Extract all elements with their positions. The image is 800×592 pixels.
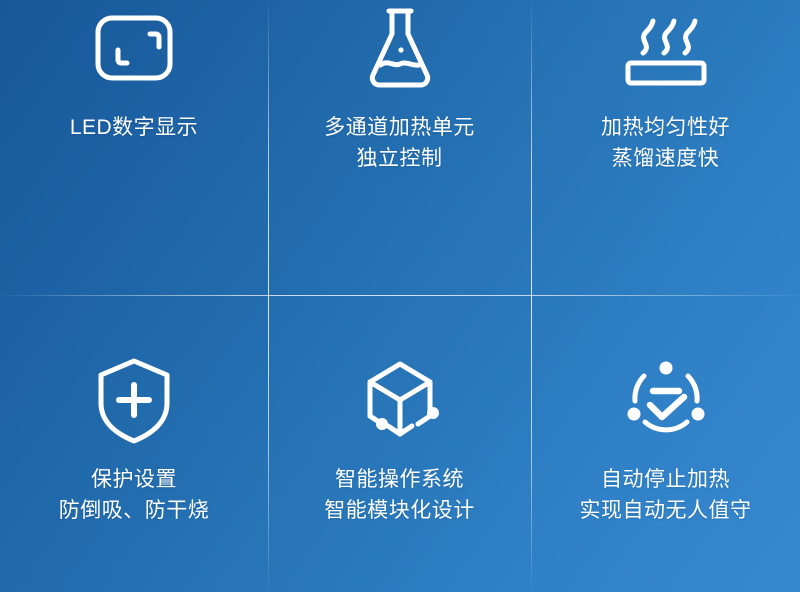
feature-grid: LED数字显示 多通道加热单元 独立控制 [0, 0, 800, 592]
feature-cell-led-display[interactable]: LED数字显示 [0, 0, 268, 296]
feature-cell-auto-stop-heating[interactable]: 自动停止加热 实现自动无人值守 [531, 296, 800, 592]
auto-stop-check-icon [622, 352, 710, 448]
led-display-icon [92, 0, 176, 96]
feature-label: 多通道加热单元 独立控制 [324, 112, 475, 174]
flask-icon [361, 0, 439, 96]
cube-module-icon [356, 352, 444, 448]
feature-cell-heating-uniformity[interactable]: 加热均匀性好 蒸馏速度快 [531, 0, 800, 296]
feature-label: 保护设置 防倒吸、防干烧 [59, 464, 210, 526]
feature-label: 自动停止加热 实现自动无人值守 [580, 464, 752, 526]
heating-plate-icon [621, 0, 711, 96]
feature-cell-protection-settings[interactable]: 保护设置 防倒吸、防干烧 [0, 296, 268, 592]
feature-label: 智能操作系统 智能模块化设计 [324, 464, 475, 526]
shield-plus-icon [92, 352, 176, 448]
feature-cell-smart-system[interactable]: 智能操作系统 智能模块化设计 [268, 296, 531, 592]
feature-panel: LED数字显示 多通道加热单元 独立控制 [0, 0, 800, 592]
feature-cell-multi-channel-heating[interactable]: 多通道加热单元 独立控制 [268, 0, 531, 296]
feature-label: LED数字显示 [70, 112, 198, 143]
feature-label: 加热均匀性好 蒸馏速度快 [601, 112, 730, 174]
